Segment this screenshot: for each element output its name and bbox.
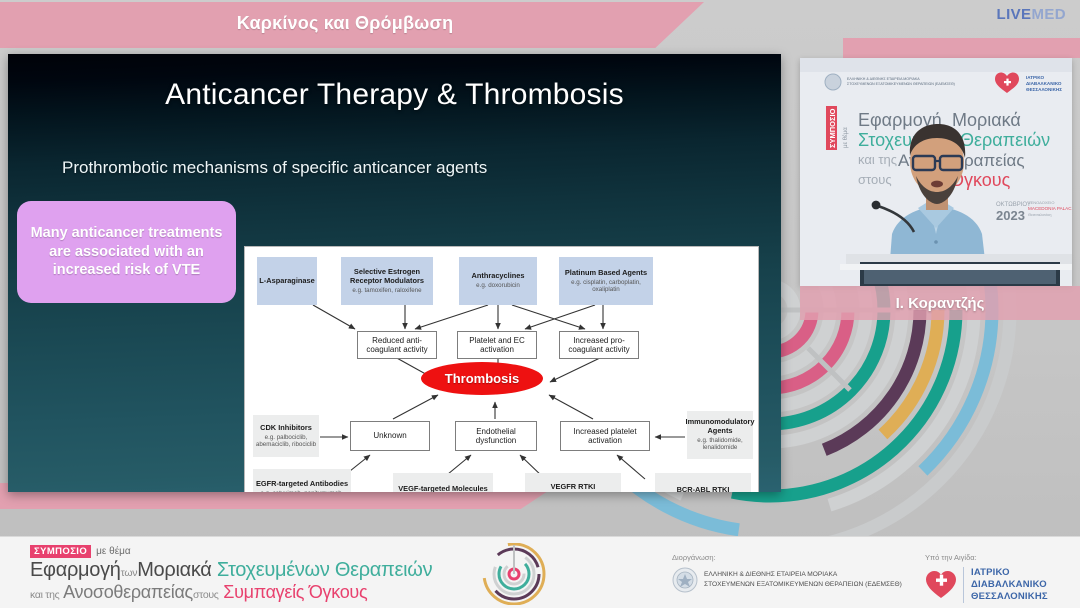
organizer-label: Διοργάνωση: <box>672 553 902 562</box>
sym-word-kai-tis: και της <box>30 589 59 601</box>
heart-cross-icon <box>925 570 957 600</box>
svg-text:2023: 2023 <box>996 208 1025 223</box>
organizer-line-1: ΕΛΛΗΝΙΚΗ & ΔΙΕΘΝΗΣ ΕΤΑΙΡΕΙΑ ΜΟΡΙΑΚΑ <box>704 570 902 580</box>
diagram-box-endothelial-dysfunction: Endothelial dysfunction <box>455 421 537 451</box>
svg-text:Θεσσαλονίκη: Θεσσαλονίκη <box>1028 212 1051 217</box>
video-pink-accent-band <box>843 38 1080 58</box>
livemed-logo-med: MED <box>1031 6 1066 23</box>
diagram-box-egfr-antibodies: EGFR-targeted Antibodies e.g. cetuximab,… <box>253 469 351 492</box>
mechanism-flow-diagram: L-Asparaginase Selective Estrogen Recept… <box>244 246 759 492</box>
video-frame: ΕΛΛΗΝΙΚΗ & ΔΙΕΘΝΗΣ ΕΤΑΙΡΕΙΑ ΜΟΡΙΑΚΑ ΣΤΟΧ… <box>800 58 1072 286</box>
slide-title: Anticancer Therapy & Thrombosis <box>8 78 781 112</box>
presenter-name-label: Ι. Κοραντζής <box>800 286 1080 320</box>
diagram-node-thrombosis: Thrombosis <box>421 362 543 395</box>
symposium-title-line2: και της Ανοσοθεραπείαςστους Συμπαγείς Όγ… <box>30 582 470 603</box>
box-heading: Increased pro-coagulant activity <box>560 336 638 355</box>
screen: Καρκίνος και Θρόμβωση LIVEMED Anticancer… <box>0 0 1080 608</box>
box-heading: Unknown <box>373 431 406 440</box>
thrombosis-label: Thrombosis <box>445 371 519 386</box>
session-title-text: Καρκίνος και Θρόμβωση <box>0 0 690 46</box>
diagram-box-platelet-ec-activation: Platelet and EC activation <box>457 331 537 359</box>
speaker-video-feed[interactable]: ΕΛΛΗΝΙΚΗ & ΔΙΕΘΝΗΣ ΕΤΑΙΡΕΙΑ ΜΟΡΙΑΚΑ ΣΤΟΧ… <box>800 58 1072 286</box>
box-heading: VEGFR RTKI <box>551 483 596 492</box>
symposium-tag: ΣΥΜΠΟΣΙΟ <box>30 545 91 558</box>
sym-word-ogkous: Όγκους <box>309 582 367 602</box>
svg-text:ΞΕΝΟΔΟΧΕΙΟ: ΞΕΝΟΔΟΧΕΙΟ <box>1028 200 1054 205</box>
svg-text:και της: και της <box>858 152 897 167</box>
society-crest-icon <box>672 567 698 593</box>
box-heading: Anthracyclines <box>472 272 525 281</box>
aegis-block: Υπό την Αιγίδα: ΙΑΤΡΙΚΟ ΔΙΑΒΑΛΚΑΝΙΚΟ ΘΕΣ… <box>925 553 1048 603</box>
livemed-logo-live: LIVE <box>997 6 1032 23</box>
diagram-box-serm: Selective Estrogen Receptor Modulators e… <box>341 257 433 305</box>
diagram-box-increased-platelet-activation: Increased platelet activation <box>560 421 650 451</box>
presenter-name-text: Ι. Κοραντζής <box>896 295 985 312</box>
aegis-label: Υπό την Αιγίδα: <box>925 553 1048 562</box>
sym-word-therapeion: Θεραπειών <box>335 559 433 581</box>
box-heading: Increased platelet activation <box>561 427 649 446</box>
slide-callout-text: Many anticancer treatments are associate… <box>25 224 228 281</box>
box-heading: Platinum Based Agents <box>565 269 647 278</box>
svg-text:με θέμα: με θέμα <box>842 127 849 148</box>
aegis-line-2: ΔΙΑΒΑΛΚΑΝΙΚΟ <box>971 579 1048 591</box>
box-example: e.g. thalidomide, lenalidomide <box>687 437 753 452</box>
box-heading: VEGF-targeted Molecules <box>398 485 488 492</box>
sym-word-sympageis: Συμπαγείς <box>223 582 304 602</box>
svg-text:Μοριακά: Μοριακά <box>952 110 1021 130</box>
diagram-box-anthracyclines: Anthracyclines e.g. doxorubicin <box>459 257 537 305</box>
box-heading: L-Asparaginase <box>259 277 314 286</box>
symposium-logo-tagline: ΣΥΜΠΟΣΙΟ με θέμα <box>30 545 470 558</box>
diagram-box-increased-procoagulant: Increased pro-coagulant activity <box>559 331 639 359</box>
livemed-logo: LIVEMED <box>997 6 1067 23</box>
box-heading: EGFR-targeted Antibodies <box>256 480 348 489</box>
svg-text:ΙΑΤΡΙΚΟ: ΙΑΤΡΙΚΟ <box>1026 75 1044 80</box>
diagram-box-l-asparaginase: L-Asparaginase <box>257 257 317 305</box>
box-heading: Immunomodulatory Agents <box>686 418 755 435</box>
diagram-box-unknown: Unknown <box>350 421 430 451</box>
slide-callout-box: Many anticancer treatments are associate… <box>17 201 236 303</box>
footer-maze-icon <box>482 543 546 605</box>
svg-text:ΔΙΑΒΑΛΚΑΝΙΚΟ: ΔΙΑΒΑΛΚΑΝΙΚΟ <box>1026 81 1062 86</box>
sym-word-stous: στους <box>193 589 219 601</box>
diagram-box-bcr-abl-rtki: BCR-ABL RTKI e.g. dasatinib, nilotinib, … <box>655 473 751 492</box>
diagram-box-vegfr-rtki: VEGFR RTKI e.g. sorafenib, sunitinib, ax… <box>525 473 621 492</box>
box-heading: Endothelial dysfunction <box>456 427 536 446</box>
organizer-row: ΕΛΛΗΝΙΚΗ & ΔΙΕΘΝΗΣ ΕΤΑΙΡΕΙΑ ΜΟΡΙΑΚΑ ΣΤΟΧ… <box>672 567 902 593</box>
box-heading: CDK Inhibitors <box>260 424 312 433</box>
aegis-line-1: ΙΑΤΡΙΚΟ <box>971 567 1048 579</box>
svg-text:στους: στους <box>858 172 892 187</box>
sym-word-moriaka: Μοριακά <box>137 559 211 581</box>
diagram-box-platinum: Platinum Based Agents e.g. cisplatin, ca… <box>559 257 653 305</box>
box-example: e.g. cetuximab, panitumumab, necitumumab <box>253 490 351 492</box>
svg-text:Θεραπειών: Θεραπειών <box>960 130 1050 150</box>
sym-word-ton: των <box>121 567 138 579</box>
symposium-logo: ΣΥΜΠΟΣΙΟ με θέμα ΕφαρμογήτωνΜοριακά Στοχ… <box>30 545 470 603</box>
box-heading: Reduced anti-coagulant activity <box>358 336 436 355</box>
sym-word-efarmogi: Εφαρμογή <box>30 559 121 581</box>
sym-word-anosotherapeias: Ανοσοθεραπείας <box>63 582 193 602</box>
symposium-with: με θέμα <box>96 546 131 557</box>
svg-text:ΣΥΜΠΟΣΙΟ: ΣΥΜΠΟΣΙΟ <box>828 108 837 148</box>
box-example: e.g. doxorubicin <box>476 282 520 289</box>
svg-text:ΣΤΟΧΕΥΜΕΝΩΝ ΕΞΑΤΟΜΙΚΕΥΜΕΝΩΝ ΘΕ: ΣΤΟΧΕΥΜΕΝΩΝ ΕΞΑΤΟΜΙΚΕΥΜΕΝΩΝ ΘΕΡΑΠΕΙΩΝ (Ε… <box>847 82 955 86</box>
diagram-box-immunomodulatory-agents: Immunomodulatory Agents e.g. thalidomide… <box>687 411 753 459</box>
svg-text:ΘΕΣΣΑΛΟΝΙΚΗΣ: ΘΕΣΣΑΛΟΝΙΚΗΣ <box>1026 87 1062 92</box>
box-example: e.g. cisplatin, carboplatin, oxaliplatin <box>559 279 653 294</box>
diagram-box-vegf-molecules: VEGF-targeted Molecules e.g. bevacizumab… <box>393 473 493 492</box>
box-example: e.g. palbociclib, abemaciclib, ribocicli… <box>253 434 319 449</box>
box-heading: Platelet and EC activation <box>458 336 536 355</box>
box-heading: Selective Estrogen Receptor Modulators <box>341 268 433 285</box>
symposium-title-line1: ΕφαρμογήτωνΜοριακά Στοχευμένων Θεραπειών <box>30 559 470 582</box>
diagram-box-cdk-inhibitors: CDK Inhibitors e.g. palbociclib, abemaci… <box>253 415 319 457</box>
sym-word-stoxeumenon: Στοχευμένων <box>217 559 330 581</box>
aegis-line-3: ΘΕΣΣΑΛΟΝΙΚΗΣ <box>971 591 1048 603</box>
aegis-row: ΙΑΤΡΙΚΟ ΔΙΑΒΑΛΚΑΝΙΚΟ ΘΕΣΣΑΛΟΝΙΚΗΣ <box>925 567 1048 603</box>
organizer-line-2: ΣΤΟΧΕΥΜΕΝΩΝ ΕΞΑΤΟΜΙΚΕΥΜΕΝΩΝ ΘΕΡΑΠΕΙΩΝ (Ε… <box>704 580 902 590</box>
slide-subtitle: Prothrombotic mechanisms of specific ant… <box>62 158 487 178</box>
box-example: e.g. tamoxifen, raloxifene <box>352 287 421 294</box>
presentation-slide: Anticancer Therapy & Thrombosis Prothrom… <box>8 54 781 492</box>
diagram-box-reduced-anticoagulant: Reduced anti-coagulant activity <box>357 331 437 359</box>
svg-text:MACEDONIA PALACE: MACEDONIA PALACE <box>1028 206 1072 211</box>
svg-text:ΕΛΛΗΝΙΚΗ & ΔΙΕΘΝΗΣ ΕΤΑΙΡΕΙΑ ΜΟ: ΕΛΛΗΝΙΚΗ & ΔΙΕΘΝΗΣ ΕΤΑΙΡΕΙΑ ΜΟΡΙΑΚΑ <box>847 77 920 81</box>
footer-bar: ΣΥΜΠΟΣΙΟ με θέμα ΕφαρμογήτωνΜοριακά Στοχ… <box>0 536 1080 608</box>
box-heading: BCR-ABL RTKI <box>677 486 730 492</box>
organizer-block: Διοργάνωση: ΕΛΛΗΝΙΚΗ & ΔΙΕΘΝΗΣ ΕΤΑΙΡΕΙΑ … <box>672 553 902 593</box>
